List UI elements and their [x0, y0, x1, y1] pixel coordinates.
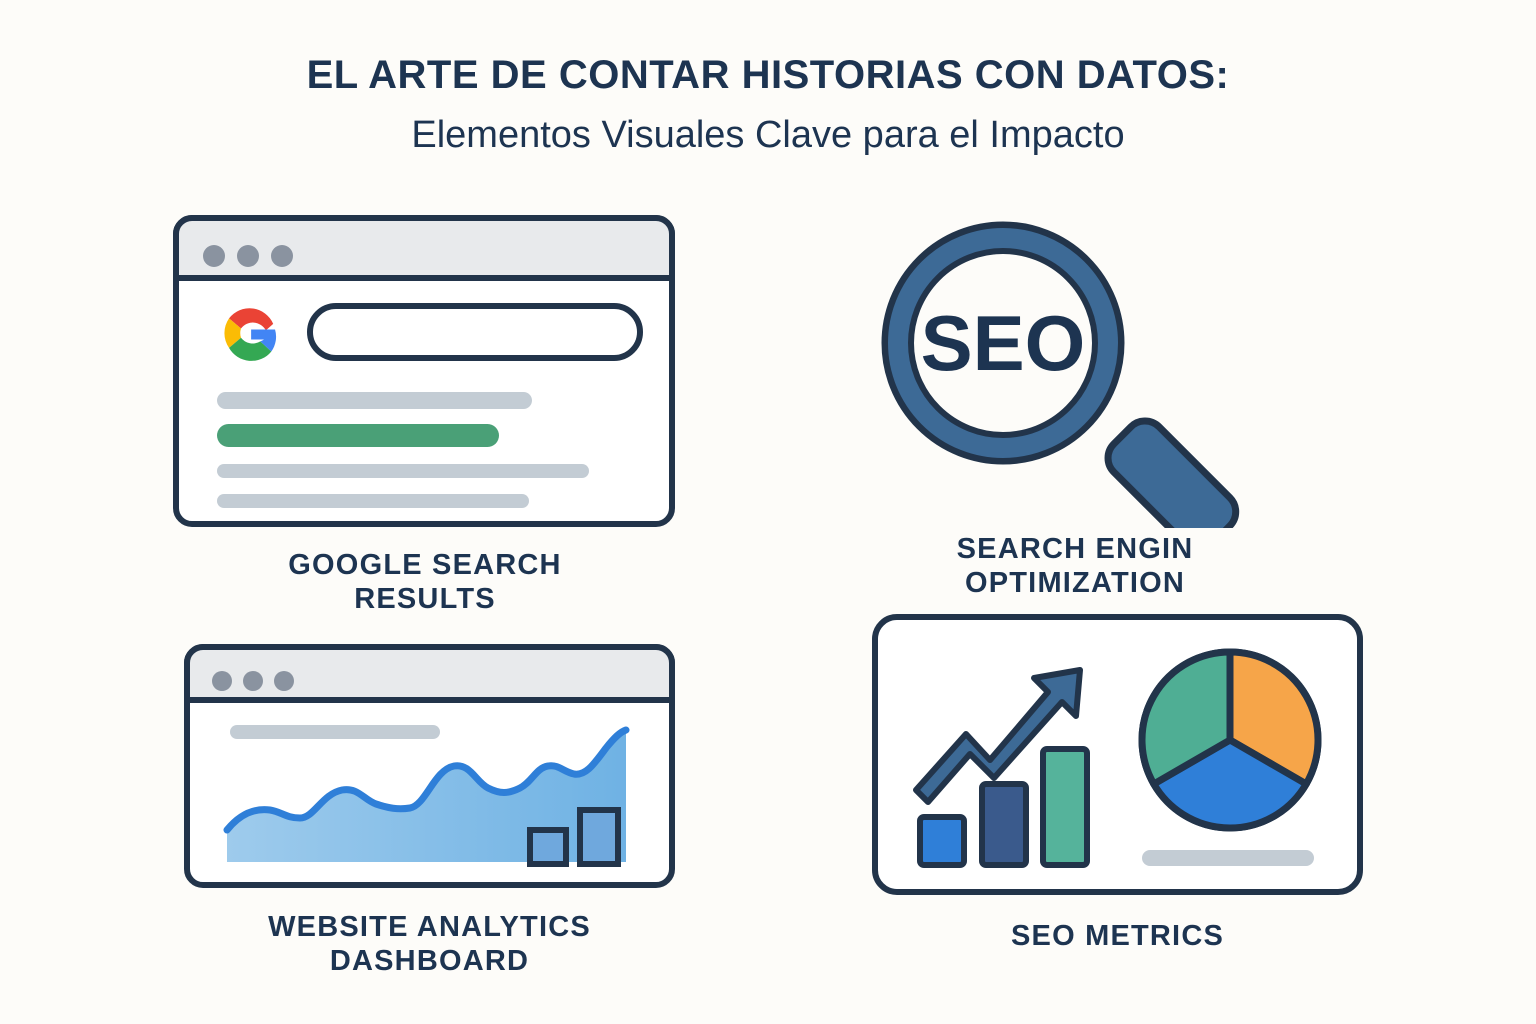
pie-chart — [1142, 652, 1318, 828]
window-dot-minimize-icon[interactable] — [243, 671, 263, 691]
panel-seo-metrics: SEO METRICS — [870, 612, 1365, 953]
magnifying-glass-icon: SEO — [845, 208, 1305, 528]
search-result-bar — [217, 464, 589, 478]
panel-metrics-caption-line1: SEO METRICS — [870, 919, 1365, 953]
window-dot-maximize-icon[interactable] — [271, 245, 293, 267]
panel-google-caption-line2: RESULTS — [170, 582, 680, 616]
panel-google-search-results: GOOGLE SEARCH RESULTS — [170, 212, 680, 616]
magnifier-label: SEO — [921, 299, 1086, 387]
panel-google-caption: GOOGLE SEARCH RESULTS — [170, 548, 680, 616]
metrics-placeholder-bar — [1142, 850, 1314, 866]
page-title-main: EL ARTE DE CONTAR HISTORIAS CON DATOS: — [0, 52, 1536, 98]
panel-analytics-caption: WEBSITE ANALYTICS DASHBOARD — [182, 910, 677, 978]
magnifier-handle — [1100, 413, 1244, 528]
search-result-bar — [217, 392, 532, 409]
panel-metrics-caption: SEO METRICS — [870, 919, 1365, 953]
panel-analytics-caption-line1: WEBSITE ANALYTICS — [182, 910, 677, 944]
panel-website-analytics: WEBSITE ANALYTICS DASHBOARD — [182, 642, 677, 978]
panel-analytics-caption-line2: DASHBOARD — [182, 944, 677, 978]
page-title-sub: Elementos Visuales Clave para el Impacto — [0, 114, 1536, 158]
panel-google-caption-line1: GOOGLE SEARCH — [170, 548, 680, 582]
metrics-bar-high — [1043, 749, 1087, 865]
search-input[interactable] — [310, 306, 640, 358]
metrics-bar-mid — [982, 784, 1026, 865]
panel-seo-caption: SEARCH ENGIN OPTIMIZATION — [845, 532, 1305, 600]
search-result-bar-highlighted — [217, 424, 499, 447]
window-dot-close-icon[interactable] — [203, 245, 225, 267]
window-dot-minimize-icon[interactable] — [237, 245, 259, 267]
panel-seo-caption-line2: OPTIMIZATION — [845, 566, 1305, 600]
panel-seo: SEO SEARCH ENGIN OPTIMIZATION — [845, 208, 1305, 600]
page-title: EL ARTE DE CONTAR HISTORIAS CON DATOS: E… — [0, 52, 1536, 158]
metrics-bar-low — [920, 817, 964, 865]
dashboard-bar — [530, 830, 566, 864]
window-dot-close-icon[interactable] — [212, 671, 232, 691]
panel-seo-caption-line1: SEARCH ENGIN — [845, 532, 1305, 566]
search-result-bar — [217, 494, 529, 508]
seo-metrics-illustration — [870, 612, 1365, 897]
analytics-dashboard-illustration — [182, 642, 677, 892]
browser-titlebar — [187, 647, 672, 700]
window-dot-maximize-icon[interactable] — [274, 671, 294, 691]
dashboard-bar — [580, 810, 618, 864]
dashboard-placeholder-bar — [230, 725, 440, 739]
google-search-window-illustration — [170, 212, 680, 532]
